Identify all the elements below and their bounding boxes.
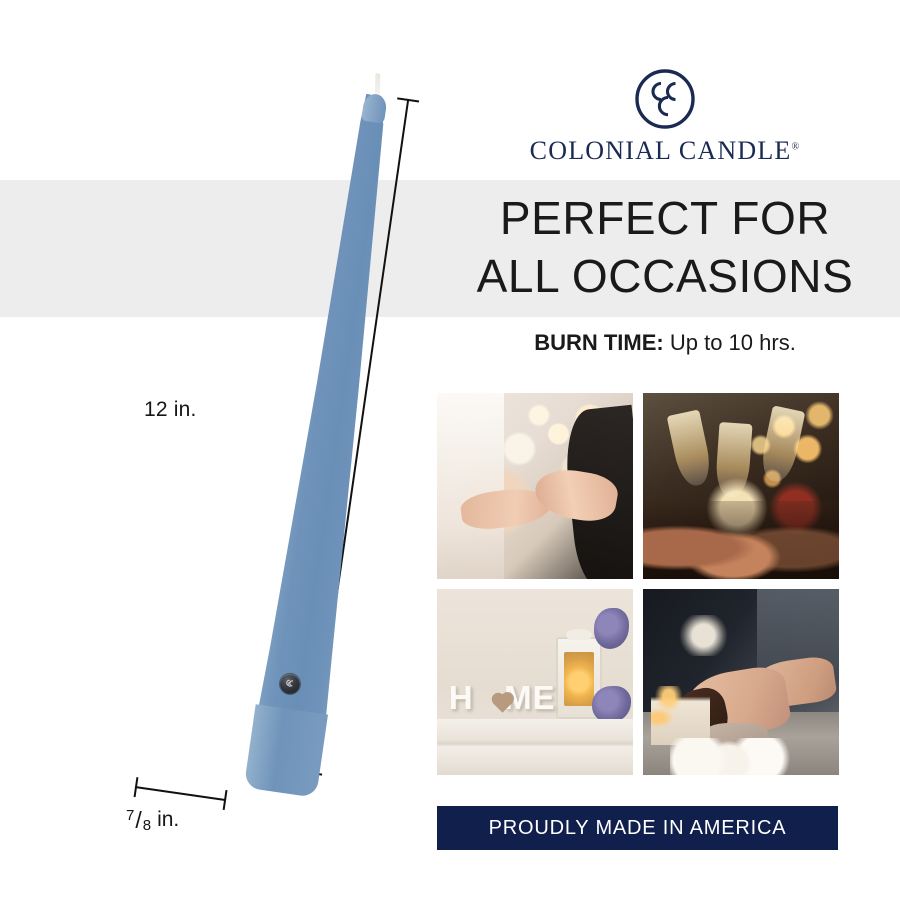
width-fraction: 7/8 (126, 809, 151, 832)
champagne-glass (667, 409, 715, 489)
burn-time-value: Up to 10 hrs. (670, 330, 796, 355)
lantern-glow (564, 652, 594, 707)
candle-illustration: 12 in. 7/8 in. (120, 60, 420, 820)
candle-panel: 12 in. 7/8 in. (0, 0, 430, 900)
photo-home-sign-lantern: H ME (437, 589, 633, 775)
registered-mark: ® (792, 141, 801, 152)
wooden-shelf (437, 719, 633, 775)
width-slash: / (134, 809, 142, 832)
made-in-america-text: PROUDLY MADE IN AMERICA (489, 817, 787, 840)
width-numerator: 7 (126, 808, 134, 823)
headline-line-1: PERFECT FOR (430, 190, 900, 248)
made-in-america-banner: PROUDLY MADE IN AMERICA (437, 806, 838, 850)
brand-name: COLONIAL CANDLE (530, 136, 792, 165)
page-title: PERFECT FOR ALL OCCASIONS (430, 190, 900, 306)
photo-wedding-ring-exchange (437, 393, 633, 579)
candle-tip (362, 93, 389, 124)
lit-candles (651, 686, 710, 746)
lavender-sprig (592, 686, 631, 723)
burn-time-label: BURN TIME: (534, 330, 664, 355)
lifestyle-photo-grid: H ME (437, 393, 838, 775)
lavender-sprig (594, 608, 629, 649)
candle-base (244, 704, 328, 798)
width-dimension-line (135, 786, 226, 801)
content-panel: COLONIAL CANDLE® PERFECT FOR ALL OCCASIO… (430, 0, 900, 900)
bride-dress (437, 393, 504, 579)
height-label: 12 in. (144, 398, 197, 422)
orchid-flowers (670, 738, 792, 775)
brand-wordmark: COLONIAL CANDLE® (430, 136, 900, 166)
toasting-hands (643, 501, 839, 579)
brand-logo: COLONIAL CANDLE® (430, 68, 900, 166)
taper-candle (228, 88, 423, 795)
champagne-glass (715, 422, 753, 499)
width-label: 7/8 in. (126, 808, 179, 832)
photo-spa-relaxation (643, 589, 839, 775)
photo-champagne-sparklers (643, 393, 839, 579)
burn-time-row: BURN TIME: Up to 10 hrs. (430, 330, 900, 356)
product-infographic: 12 in. 7/8 in. COLONIAL CANDLE® PERFECT … (0, 0, 900, 900)
headline-line-2: ALL OCCASIONS (430, 248, 900, 306)
candle-body (228, 88, 423, 795)
colonial-candle-monogram-icon (634, 68, 696, 130)
champagne-glass (757, 405, 805, 485)
width-unit: in. (157, 808, 179, 832)
width-denominator: 8 (143, 818, 151, 833)
white-flower-arrangement (678, 615, 729, 656)
